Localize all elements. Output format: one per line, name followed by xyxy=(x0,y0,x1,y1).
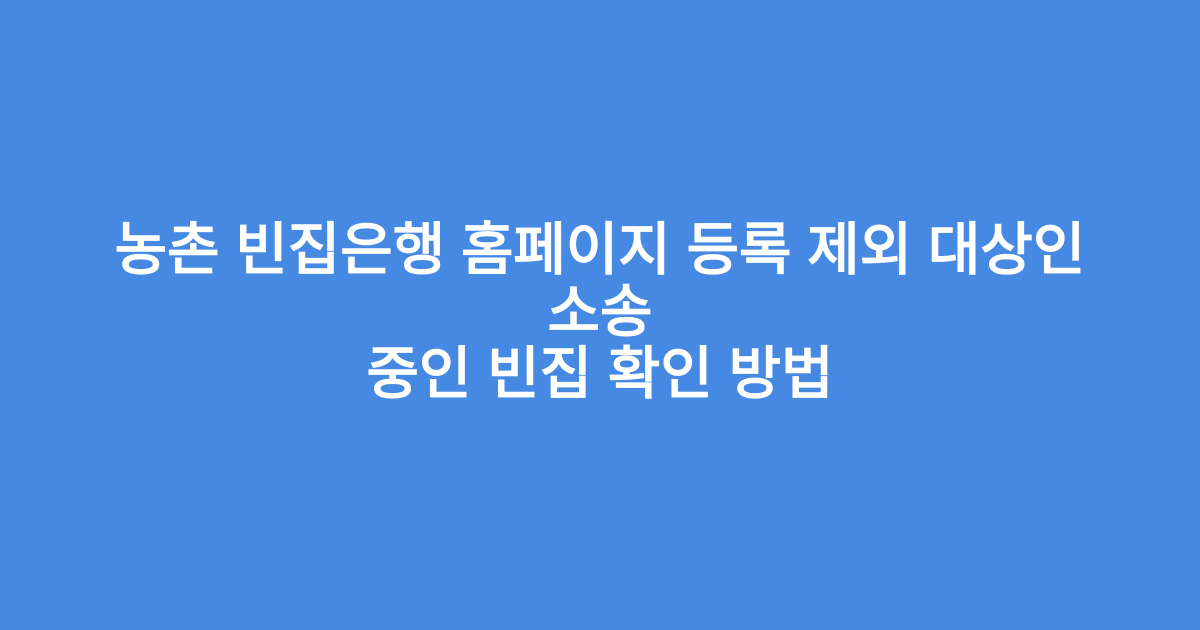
page-title: 농촌 빈집은행 홈페이지 등록 제외 대상인 소송 중인 빈집 확인 방법 xyxy=(70,219,1130,405)
og-card: 농촌 빈집은행 홈페이지 등록 제외 대상인 소송 중인 빈집 확인 방법 xyxy=(0,0,1200,630)
headline-block: 농촌 빈집은행 홈페이지 등록 제외 대상인 소송 중인 빈집 확인 방법 xyxy=(70,219,1130,405)
